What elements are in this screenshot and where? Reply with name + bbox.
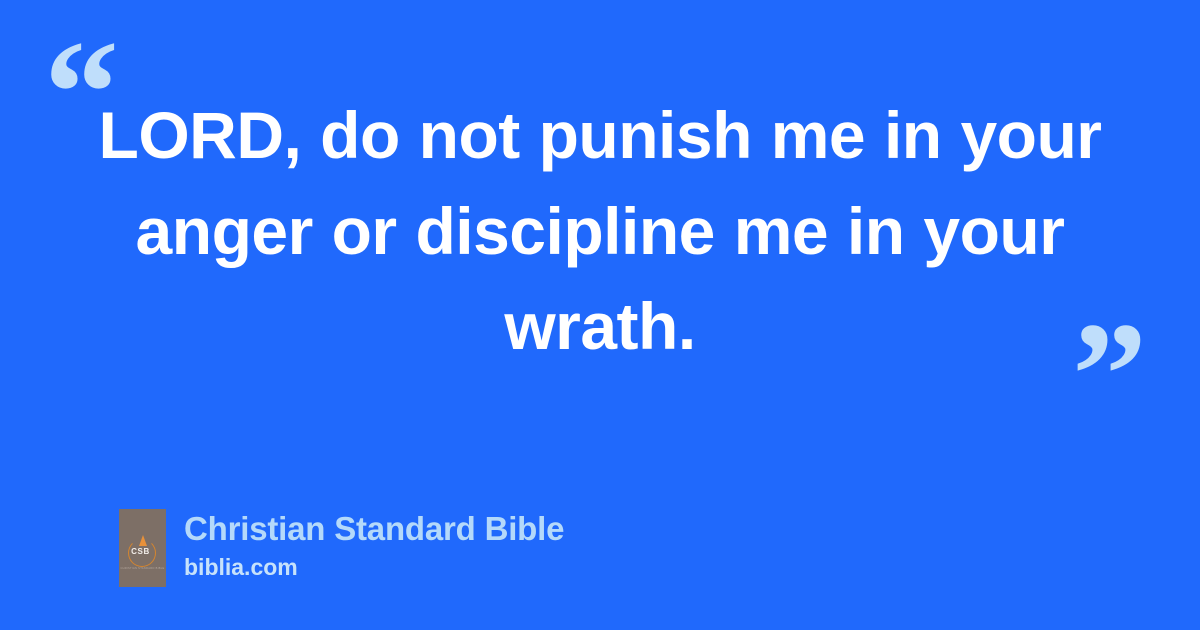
emblem-label: CSB [128,547,154,556]
book-cover-thumbnail: CSB CHRISTIAN STANDARD BIBLE [119,509,166,587]
book-cover-footline: CHRISTIAN STANDARD BIBLE [119,567,166,570]
source-title: Christian Standard Bible [184,510,564,548]
csb-emblem-icon: CSB [128,539,158,569]
source-url[interactable]: biblia.com [184,554,564,582]
source-text-block: Christian Standard Bible biblia.com [184,509,564,582]
attribution: CSB CHRISTIAN STANDARD BIBLE Christian S… [119,509,564,587]
verse-quote-block: LORD, do not punish me in your anger or … [90,88,1110,375]
emblem-flame-icon [139,535,147,546]
verse-text: LORD, do not punish me in your anger or … [90,88,1110,375]
verse-quote-card: “ LORD, do not punish me in your anger o… [0,0,1200,630]
closing-quote-icon: ” [1072,300,1147,450]
